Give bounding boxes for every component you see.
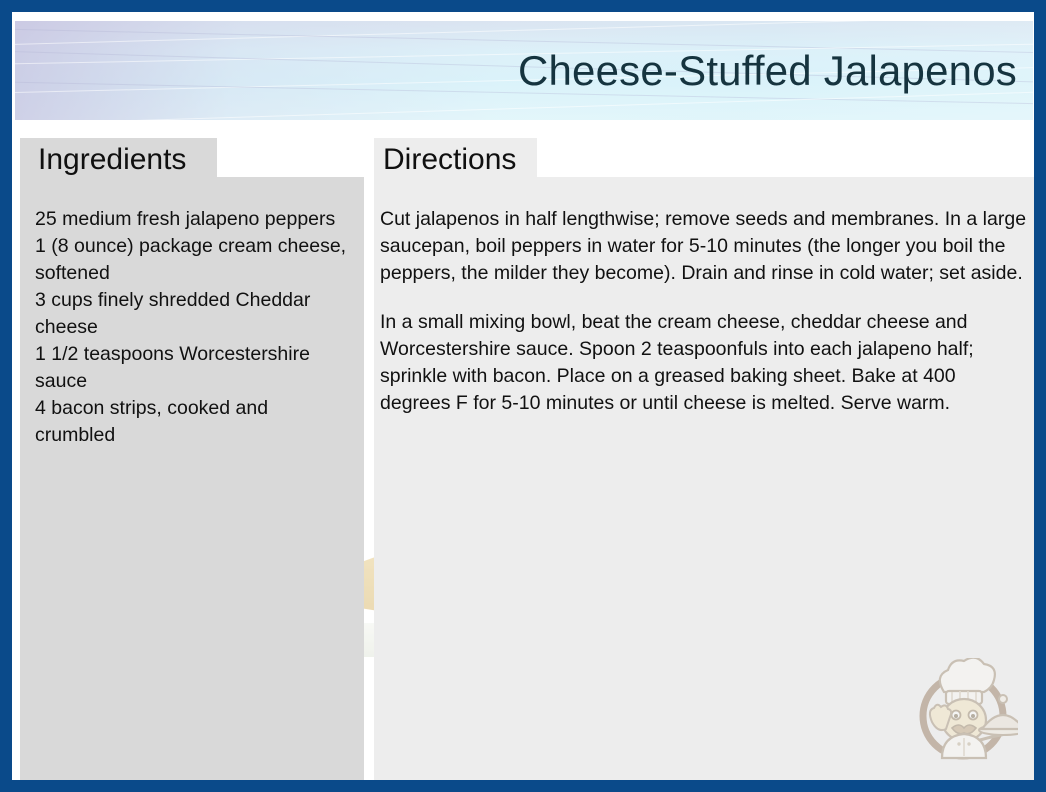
directions-paragraph: Cut jalapenos in half lengthwise; remove… <box>380 206 1028 287</box>
slide-content-area: Cheese-Stuffed Jalapenos <box>12 12 1034 780</box>
directions-heading: Directions <box>383 143 516 177</box>
banner-texture-line <box>15 21 1033 48</box>
ingredients-list: 25 medium fresh jalapeno peppers 1 (8 ou… <box>35 206 353 449</box>
chef-with-cloche-logo <box>908 658 1018 768</box>
directions-paragraph: In a small mixing bowl, beat the cream c… <box>380 309 1028 417</box>
title-banner: Cheese-Stuffed Jalapenos <box>15 21 1033 120</box>
recipe-slide: Cheese-Stuffed Jalapenos <box>0 0 1046 792</box>
directions-body: Cut jalapenos in half lengthwise; remove… <box>380 206 1028 417</box>
slide-title: Cheese-Stuffed Jalapenos <box>518 47 1017 95</box>
ingredients-heading: Ingredients <box>38 143 186 177</box>
